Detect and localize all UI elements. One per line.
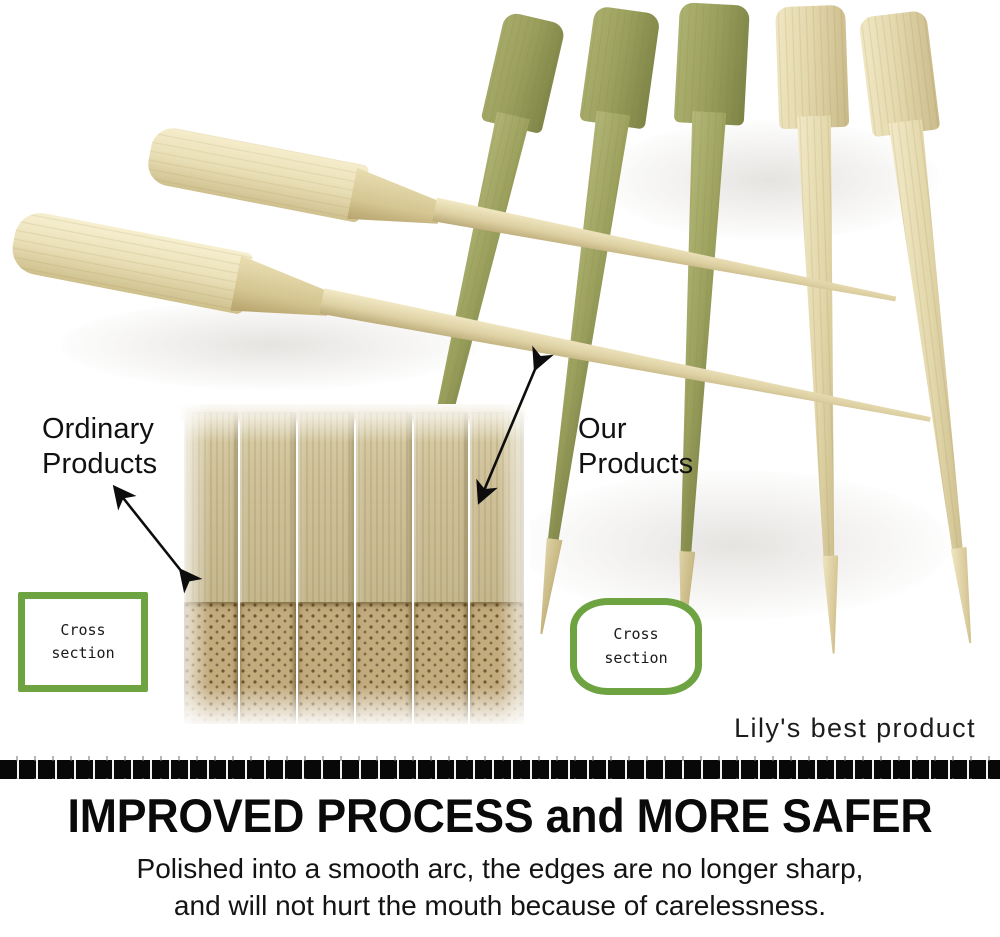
subcopy: Polished into a smooth arc, the edges ar… [0, 842, 1000, 925]
skewer-neck [347, 168, 445, 236]
cross-section-stick [298, 412, 354, 724]
cross-section-tag-line2: section [51, 642, 114, 665]
cross-section-stick [414, 412, 468, 724]
cross-section-tag-line1: Cross [60, 619, 105, 642]
skewer-shaft [797, 115, 847, 566]
paddle-skewer-bamboo-2 [858, 10, 1000, 654]
skewer-paddle [579, 5, 661, 129]
marketing-text-panel: IMPROVED PROCESS and MORE SAFER Polished… [0, 779, 1000, 937]
skewer-paddle [775, 5, 849, 129]
paddle-skewer-bamboo-1 [775, 5, 868, 657]
cross-section-tag-left: Cross section [18, 592, 148, 692]
product-photo-panel: Ordinary Products Our Products Cross sec… [0, 0, 1000, 760]
skewer-paddle [674, 2, 750, 125]
cross-section-stick [240, 412, 296, 724]
skewer-paddle [8, 209, 253, 315]
divider-tick-row-top [0, 756, 1000, 761]
skewer-shaft [888, 119, 975, 560]
skewer-paddle [481, 11, 567, 134]
subcopy-line-2: and will not hurt the mouth because of c… [0, 888, 1000, 925]
skewer-neck [230, 256, 335, 329]
headline: IMPROVED PROCESS and MORE SAFER [25, 779, 975, 842]
arrow-our-products [468, 358, 548, 510]
skewer-paddle [144, 125, 369, 224]
callout-label-ordinary: Ordinary Products [42, 412, 157, 483]
callout-label-ours: Our Products [578, 412, 693, 483]
cross-section-tag-right: Cross section [570, 598, 702, 695]
skewer-tip [951, 547, 979, 644]
cross-section-stick [356, 412, 412, 724]
skewer-tip [822, 555, 841, 653]
subcopy-line-1: Polished into a smooth arc, the edges ar… [0, 851, 1000, 888]
cross-section-tag-line2: section [604, 647, 667, 670]
section-divider-bar [0, 760, 1000, 779]
cross-section-tag-line1: Cross [613, 623, 658, 646]
skewer-tip [533, 538, 562, 635]
skewer-paddle [858, 10, 940, 137]
arrow-ordinary-products [100, 480, 220, 585]
brand-tagline: Lily's best product [734, 713, 976, 744]
